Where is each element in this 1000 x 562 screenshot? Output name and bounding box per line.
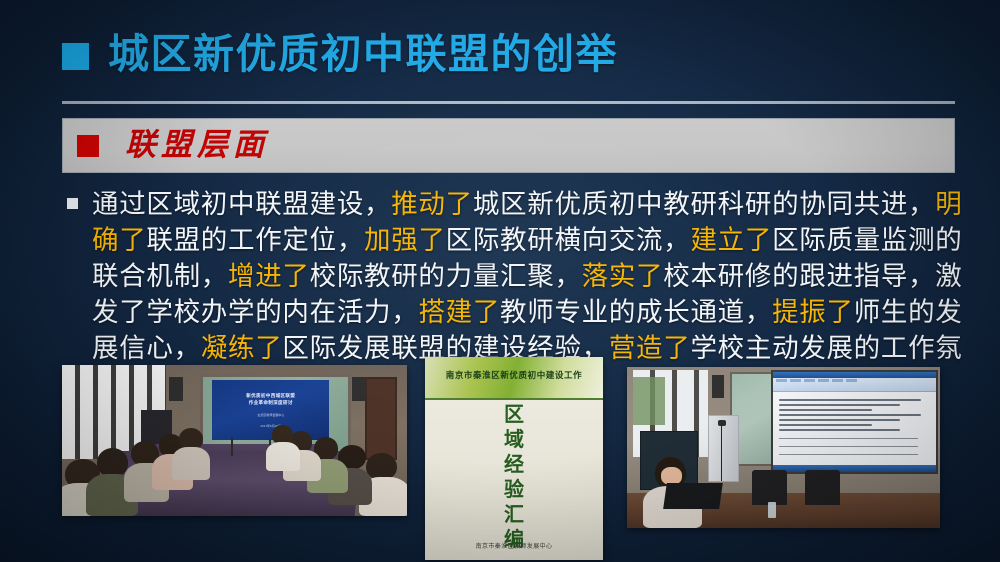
conference-room-photo: 新优质初中西城区联盟 作业革命制深度研讨 玄武区教师发展中心 2017年6月20… (62, 365, 407, 516)
photo1-attendee-head (97, 448, 128, 477)
photo2-header-text: 南京市秦淮区新优质初中建设工作 (425, 369, 603, 381)
photo3-doc-line (779, 404, 900, 406)
photo3-person-face (661, 467, 681, 485)
photo1-speaker-right (352, 377, 366, 401)
title-divider (62, 101, 955, 104)
photo2-title-char: 域 (504, 427, 524, 452)
photo2-vertical-title: 区 域 经 验 汇 编 (504, 402, 524, 552)
photo1-screen-line2: 作业革命制深度研讨 (249, 399, 293, 406)
photo3-doc-line (779, 429, 900, 431)
photo3-doc-rule (779, 454, 918, 455)
body-plain-phrase: 教师专业的成长通道， (500, 297, 772, 327)
subtitle-band: 联盟层面 (62, 118, 955, 173)
photo3-ribbon-tabs (773, 378, 936, 383)
body-highlight-phrase: 推动了 (391, 189, 473, 219)
slide-title-row: 城区新优质初中联盟的创举 (62, 34, 618, 75)
photo3-doc-rule (779, 438, 918, 439)
subtitle-bullet-icon (77, 135, 99, 157)
photo3-screen-taskbar (773, 465, 936, 472)
body-bullet-icon (67, 198, 78, 209)
photo3-screen-ribbon (773, 378, 936, 392)
photo3-doc-line (779, 414, 921, 416)
photo3-chair (805, 470, 839, 505)
photo2-title-char: 汇 (504, 502, 524, 527)
body-plain-phrase: 通过区域初中联盟建设， (92, 189, 391, 219)
photo3-doc-line (779, 409, 872, 411)
body-plain-phrase: 学校办学的内在活力， (146, 297, 418, 327)
photo3-ribbon-tab (790, 379, 801, 382)
photo2-title-char: 经 (504, 452, 524, 477)
book-cover-photo: 南京市秦淮区新优质初中建设工作 区 域 经 验 汇 编 南京市秦淮区教师发展中心 (425, 357, 603, 560)
body-plain-phrase: 城区新优质初中教研科研的协同共进， (473, 189, 935, 219)
photo1-projection-screen: 新优质初中西城区联盟 作业革命制深度研讨 玄武区教师发展中心 2017年6月20… (212, 380, 329, 440)
body-plain-phrase: 联盟的工作定位， (146, 225, 364, 255)
body-highlight-phrase: 营造了 (609, 333, 691, 363)
photo1-screen-sub1: 玄武区教师发展中心 (257, 413, 284, 418)
photo3-ribbon-tab (832, 379, 843, 382)
body-highlight-phrase: 凝练了 (201, 333, 283, 363)
body-plain-phrase: 校际教研的力量汇聚， (310, 261, 582, 291)
photo3-screen (771, 370, 938, 474)
body-highlight-phrase: 提振了 (772, 297, 854, 327)
body-highlight-phrase: 搭建了 (418, 297, 500, 327)
subtitle-text: 联盟层面 (125, 130, 269, 161)
photo3-doc-line (779, 419, 900, 421)
photo1-door (365, 377, 397, 460)
photo3-water-bottle (768, 502, 776, 518)
photo3-doc-line (779, 424, 872, 426)
photo1-screen-line1: 新优质初中西城区联盟 (246, 392, 295, 399)
photo3-ribbon-tab (818, 379, 829, 382)
photo3-window-foliage (633, 377, 664, 425)
body-highlight-phrase: 落实了 (582, 261, 664, 291)
body-highlight-phrase: 加强了 (364, 225, 446, 255)
photo2-footer-text: 南京市秦淮区教师发展中心 (425, 541, 603, 550)
photo1-attendee-body (266, 442, 301, 471)
photo1-speaker-left (169, 377, 183, 401)
photo3-doc-rule (779, 446, 918, 447)
photo3-document-body (773, 392, 936, 466)
photo3-doc-line (779, 399, 921, 401)
photo2-title-char: 验 (504, 477, 524, 502)
photo3-ribbon-tab (846, 379, 857, 382)
photo3-chair (752, 470, 786, 505)
slide: 城区新优质初中联盟的创举 联盟层面 通过区域初中联盟建设，推动了城区新优质初中教… (0, 0, 1000, 562)
title-bullet-icon (62, 43, 89, 70)
body-highlight-phrase: 增进了 (228, 261, 310, 291)
page-title: 城区新优质初中联盟的创举 (108, 34, 618, 75)
photo1-microphone (231, 437, 233, 455)
photo3-speaker (712, 375, 725, 398)
photo3-camera-tripod (721, 425, 723, 481)
body-plain-phrase: 区际教研横向交流， (446, 225, 691, 255)
photo2-title-char: 区 (504, 402, 524, 427)
photo3-laptop (663, 483, 723, 509)
classroom-display-photo (627, 367, 940, 528)
photo1-attendee-body (172, 447, 210, 480)
photo3-ribbon-tab (776, 379, 787, 382)
body-plain-phrase: 校本研修的跟进指导， (663, 261, 935, 291)
photo3-ribbon-tab (804, 379, 815, 382)
body-highlight-phrase: 建立了 (690, 225, 772, 255)
